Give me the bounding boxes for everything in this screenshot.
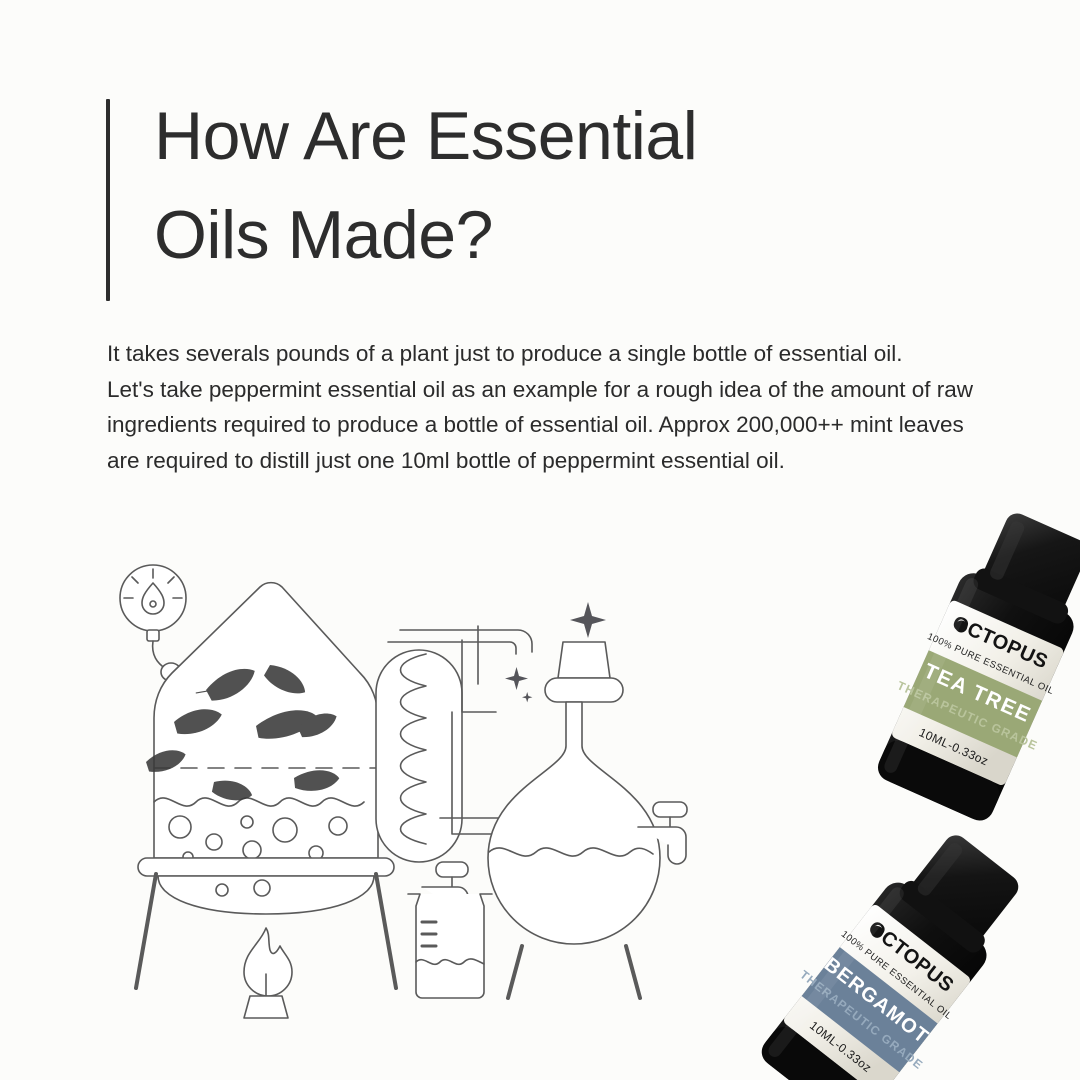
poster-canvas: How Are Essential Oils Made? It takes se… — [0, 0, 1080, 1080]
body-paragraph-1: It takes severals pounds of a plant just… — [107, 336, 987, 372]
distillation-illustration — [110, 550, 730, 1050]
round-flask — [488, 642, 660, 944]
title-accent-bar — [106, 99, 110, 301]
pressure-gauge-icon — [120, 565, 186, 681]
page-title: How Are Essential Oils Made? — [154, 87, 697, 286]
body-paragraph-2: Let's take peppermint essential oil as a… — [107, 372, 987, 479]
product-bottle-tea-tree: OCTOPUS 100% PURE ESSENTIAL OIL TEA TREE… — [855, 505, 1080, 835]
page-title-block: How Are Essential Oils Made? — [106, 99, 906, 304]
body-copy: It takes severals pounds of a plant just… — [107, 336, 987, 478]
product-bottle-bergamot: OCTOPUS 100% PURE ESSENTIAL OIL BERGAMOT… — [735, 820, 1035, 1080]
flask-stand — [508, 946, 640, 998]
beaker — [408, 894, 492, 998]
burner-flame-icon — [244, 928, 292, 1018]
